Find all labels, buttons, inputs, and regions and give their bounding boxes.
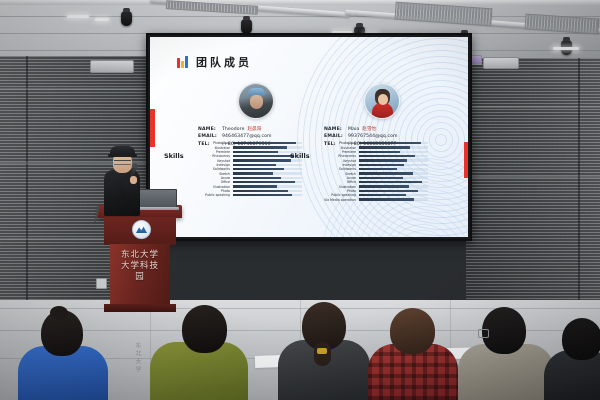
attendee-6-head bbox=[562, 318, 600, 360]
skill-bar-track bbox=[233, 181, 303, 183]
profile-card-1: NAME: Theodore 赵晨阳 EMAIL: 946463477@qq.c… bbox=[192, 83, 320, 148]
skill-bar-fill bbox=[359, 172, 413, 174]
skill-bar-track bbox=[359, 185, 429, 187]
skill-bar-track bbox=[233, 177, 303, 179]
value-name: Theodore bbox=[222, 126, 245, 133]
skill-bar-fill bbox=[233, 177, 282, 179]
skill-bar-fill bbox=[359, 190, 419, 192]
skill-bar-track bbox=[359, 190, 429, 192]
downlight-5 bbox=[553, 47, 579, 50]
avatar-photo-female-red bbox=[364, 83, 400, 119]
slide-accent-right bbox=[464, 142, 468, 178]
skill-bar-fill bbox=[359, 164, 405, 166]
skill-bar-track bbox=[233, 146, 303, 148]
skills-label-1: Skills bbox=[164, 152, 184, 160]
skill-row: Via Media operation bbox=[320, 197, 428, 201]
skill-bar-fill bbox=[233, 190, 289, 192]
downlight-1 bbox=[67, 15, 89, 18]
presenter-hand bbox=[130, 176, 137, 184]
podium-line-1: 东北大学 bbox=[112, 250, 168, 261]
skill-bar-track bbox=[233, 185, 303, 187]
skill-bar-track bbox=[233, 190, 303, 192]
skills-label-2: Skills bbox=[290, 152, 310, 160]
profile-card-2: NAME: Maia 赵雪怡 EMAIL: 993767544@qq.com T… bbox=[318, 83, 446, 148]
floor-reflection-text: 东北大学 bbox=[133, 342, 142, 374]
skill-bar-track bbox=[359, 151, 429, 153]
value-email: 993767544@qq.com bbox=[348, 133, 398, 140]
downlight-2 bbox=[95, 18, 109, 21]
presenter-hat bbox=[110, 146, 135, 157]
skill-bar-fill bbox=[359, 142, 422, 144]
attendee-4-head bbox=[390, 308, 435, 354]
skill-bar-track bbox=[233, 164, 303, 166]
wall-projector-mount bbox=[483, 57, 519, 69]
podium-line-2: 大学科技 bbox=[112, 261, 168, 272]
skill-bar-track bbox=[359, 177, 429, 179]
skill-bar-fill bbox=[359, 181, 423, 183]
podium-base bbox=[104, 304, 176, 312]
wall-panel-right bbox=[466, 58, 600, 316]
slide-accent-left bbox=[150, 109, 155, 147]
skill-bar-fill bbox=[359, 146, 410, 148]
value-name: Maia bbox=[348, 126, 359, 133]
value-name-cn: 赵雪怡 bbox=[362, 126, 376, 133]
blue-bar bbox=[185, 56, 188, 68]
skill-bar-track bbox=[233, 172, 303, 174]
skill-bar-fill bbox=[359, 198, 415, 200]
yellow-bar bbox=[181, 61, 184, 68]
skill-bar-fill bbox=[359, 151, 401, 153]
attendee-3-hair-clip bbox=[317, 348, 327, 354]
skill-bar-track bbox=[359, 155, 429, 157]
ceiling-speaker-box bbox=[90, 60, 134, 73]
skill-bar-fill bbox=[233, 172, 273, 174]
lecture-room-photo: 团队成员 NAME: Theodore 赵晨阳 EMAIL: 946463477… bbox=[0, 0, 600, 400]
skill-bar-fill bbox=[233, 155, 294, 157]
skill-bar-fill bbox=[359, 177, 403, 179]
skill-bar-track bbox=[359, 146, 429, 148]
slide-title: 团队成员 bbox=[196, 54, 252, 70]
skill-bar-track bbox=[359, 194, 429, 196]
presenter-glasses bbox=[114, 160, 131, 165]
skill-bar-fill bbox=[233, 168, 284, 170]
skill-bar-fill bbox=[233, 151, 279, 153]
profile-2-email-row: EMAIL: 993767544@qq.com bbox=[324, 133, 446, 140]
attendee-1-hair-bun bbox=[50, 306, 68, 320]
label-name: NAME: bbox=[198, 126, 222, 133]
skill-label: Public speaking bbox=[194, 193, 233, 197]
skill-bar-track bbox=[359, 164, 429, 166]
skill-bar-fill bbox=[233, 194, 293, 196]
university-emblem-icon bbox=[132, 220, 151, 239]
skill-bar-track bbox=[233, 168, 303, 170]
profile-1-email-row: EMAIL: 946463477@qq.com bbox=[198, 133, 320, 140]
skill-bar-track bbox=[359, 142, 429, 144]
skill-row: Public speaking bbox=[194, 193, 302, 197]
skill-bar-fill bbox=[233, 142, 297, 144]
skill-bar-fill bbox=[233, 185, 277, 187]
attendee-3-ponytail bbox=[314, 342, 331, 366]
value-email: 946463477@qq.com bbox=[222, 133, 272, 140]
skill-bar-fill bbox=[359, 155, 416, 157]
skill-bar-fill bbox=[233, 159, 291, 161]
skill-bar-track bbox=[233, 194, 303, 196]
slide-logo-bars bbox=[177, 55, 188, 68]
podium-line-3: 园 bbox=[112, 272, 168, 283]
skill-bar-fill bbox=[233, 146, 287, 148]
presentation-slide: 团队成员 NAME: Theodore 赵晨阳 EMAIL: 946463477… bbox=[150, 37, 468, 237]
skill-bar-track bbox=[359, 172, 429, 174]
label-email: EMAIL: bbox=[198, 133, 222, 140]
projection-screen-frame: 团队成员 NAME: Theodore 赵晨阳 EMAIL: 946463477… bbox=[146, 33, 472, 241]
skill-bar-track bbox=[233, 142, 303, 144]
skill-label: Via Media operation bbox=[320, 198, 359, 202]
skills-bars-1: PhotoshopIllustratorPremiereRhinocerosKe… bbox=[194, 141, 302, 197]
avatar-photo-male-cap bbox=[238, 83, 274, 119]
value-name-cn: 赵晨阳 bbox=[248, 126, 262, 133]
profile-1-name-row: NAME: Theodore 赵晨阳 bbox=[198, 126, 320, 133]
skill-bar-fill bbox=[359, 194, 406, 196]
spotlight-2 bbox=[241, 19, 252, 34]
skill-bar-fill bbox=[233, 164, 276, 166]
skill-bar-fill bbox=[359, 185, 409, 187]
skill-bar-fill bbox=[359, 159, 408, 161]
skills-bars-2: PhotoshopIllustratorPremiereRhinocerosKe… bbox=[320, 141, 428, 202]
skill-bar-fill bbox=[233, 181, 296, 183]
podium-banner-text: 东北大学 大学科技 园 bbox=[112, 250, 168, 283]
skill-bar-track bbox=[359, 168, 429, 170]
skill-bar-track bbox=[359, 159, 429, 161]
attendee-2-head bbox=[182, 305, 227, 353]
attendee-5-glasses bbox=[478, 329, 489, 338]
profile-2-name-row: NAME: Maia 赵雪怡 bbox=[324, 126, 446, 133]
wall-outlet bbox=[96, 278, 107, 289]
spotlight-1 bbox=[121, 11, 132, 26]
label-name: NAME: bbox=[324, 126, 348, 133]
skill-bar-track bbox=[359, 181, 429, 183]
skill-bar-fill bbox=[359, 168, 398, 170]
label-email: EMAIL: bbox=[324, 133, 348, 140]
skill-bar-track bbox=[359, 198, 429, 200]
red-bar bbox=[177, 58, 180, 68]
